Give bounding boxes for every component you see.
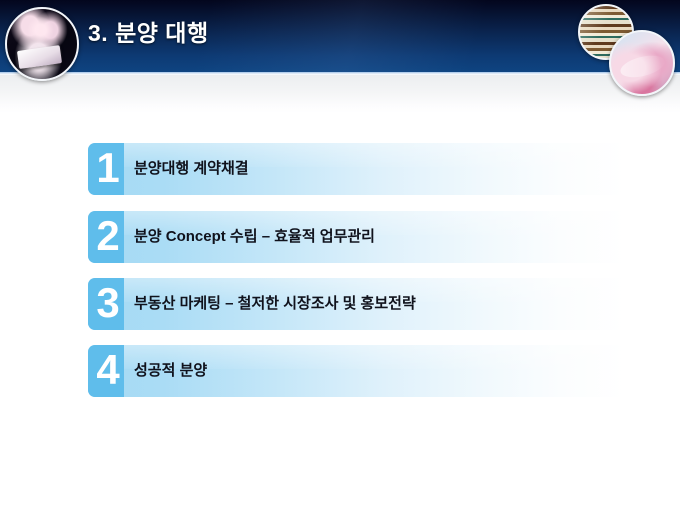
list-item[interactable]: 4 성공적 분양 [88,345,625,397]
step-label: 분양 Concept 수립 – 효율적 업무관리 [134,211,375,263]
step-number: 3 [88,275,128,331]
step-number: 4 [88,342,128,398]
step-label: 성공적 분양 [134,345,207,397]
step-label: 부동산 마케팅 – 철저한 시장조사 및 홍보전략 [134,278,416,330]
presentation-slide: 3. 분양 대행 1 분양대행 계약채결 2 분양 Concept 수립 – 효… [0,0,680,510]
list-item[interactable]: 2 분양 Concept 수립 – 효율적 업무관리 [88,211,625,263]
list-item[interactable]: 1 분양대행 계약채결 [88,143,625,195]
list-item[interactable]: 3 부동산 마케팅 – 철저한 시장조사 및 홍보전략 [88,278,625,330]
step-label: 분양대행 계약채결 [134,143,249,195]
process-step-list: 1 분양대행 계약채결 2 분양 Concept 수립 – 효율적 업무관리 3… [0,0,680,510]
step-number: 1 [88,140,128,196]
step-number: 2 [88,208,128,264]
